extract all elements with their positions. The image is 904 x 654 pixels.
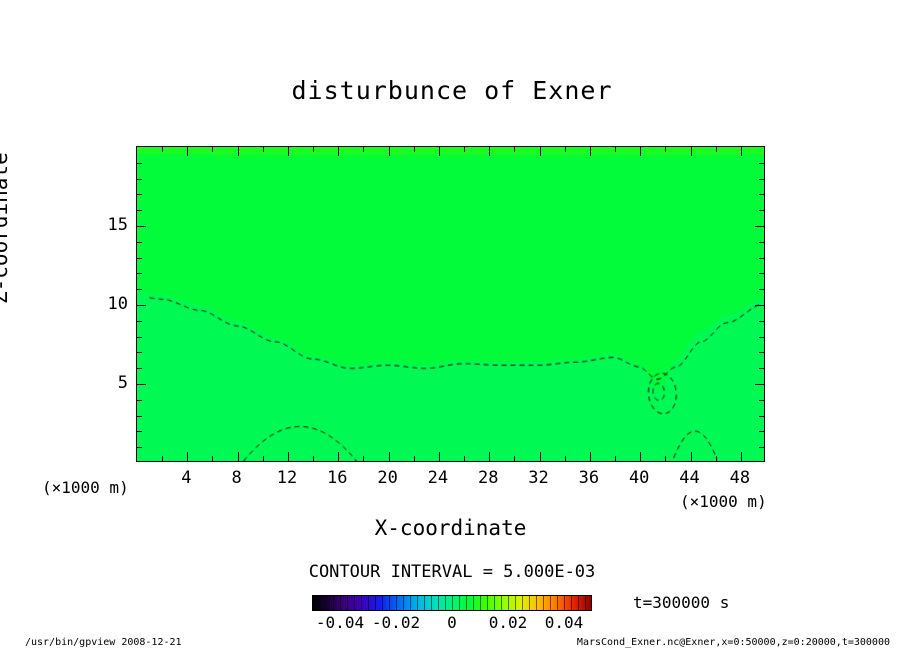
x-tick bbox=[489, 452, 490, 461]
y-axis-label: Z-coordinate bbox=[0, 152, 12, 304]
colorbar-tick bbox=[459, 595, 460, 611]
x-minor-tick bbox=[414, 147, 415, 152]
x-tick bbox=[238, 452, 239, 461]
x-tick bbox=[640, 452, 641, 461]
y-minor-tick bbox=[759, 337, 764, 338]
x-tick-label: 24 bbox=[428, 468, 448, 488]
x-minor-tick bbox=[363, 456, 364, 461]
colorbar-tick bbox=[438, 595, 439, 611]
x-minor-tick bbox=[716, 456, 717, 461]
x-minor-tick bbox=[162, 147, 163, 152]
y-tick bbox=[755, 384, 764, 385]
colorbar-tick bbox=[522, 595, 523, 611]
x-minor-tick bbox=[464, 147, 465, 152]
x-minor-tick bbox=[565, 456, 566, 461]
colorbar-tick bbox=[319, 595, 320, 611]
x-tick bbox=[238, 147, 239, 156]
y-minor-tick bbox=[137, 352, 142, 353]
colorbar-tick bbox=[515, 595, 516, 611]
x-minor-tick bbox=[313, 147, 314, 152]
x-tick-label: 44 bbox=[679, 468, 699, 488]
x-tick bbox=[389, 452, 390, 461]
y-minor-tick bbox=[137, 337, 142, 338]
y-tick-label: 5 bbox=[80, 373, 128, 393]
x-axis-label: X-coordinate bbox=[136, 516, 765, 540]
x-minor-tick bbox=[615, 147, 616, 152]
colorbar-tick bbox=[382, 595, 383, 611]
colorbar-tick bbox=[508, 595, 509, 611]
x-minor-tick bbox=[263, 456, 264, 461]
colorbar: -0.04-0.0200.020.04 bbox=[312, 595, 592, 611]
colorbar-label: -0.02 bbox=[372, 613, 420, 632]
x-minor-tick bbox=[665, 456, 666, 461]
x-minor-tick bbox=[665, 147, 666, 152]
y-tick bbox=[755, 305, 764, 306]
x-minor-tick bbox=[162, 456, 163, 461]
plot-area bbox=[136, 146, 765, 462]
colorbar-tick bbox=[543, 595, 544, 611]
x-tick-label: 28 bbox=[478, 468, 498, 488]
y-minor-tick bbox=[759, 368, 764, 369]
colorbar-tick bbox=[326, 595, 327, 611]
colorbar-tick bbox=[557, 595, 558, 611]
x-tick bbox=[338, 147, 339, 156]
colorbar-tick bbox=[550, 595, 551, 611]
colorbar-tick bbox=[466, 595, 467, 611]
x-tick bbox=[288, 452, 289, 461]
x-minor-tick bbox=[212, 456, 213, 461]
y-minor-tick bbox=[137, 368, 142, 369]
y-minor-tick bbox=[759, 321, 764, 322]
y-minor-tick bbox=[137, 273, 142, 274]
x-minor-tick bbox=[514, 147, 515, 152]
x-tick bbox=[489, 147, 490, 156]
colorbar-tick bbox=[494, 595, 495, 611]
colorbar-label: 0.02 bbox=[489, 613, 528, 632]
y-minor-tick bbox=[137, 258, 142, 259]
x-minor-tick bbox=[263, 147, 264, 152]
y-minor-tick bbox=[759, 431, 764, 432]
colorbar-label: -0.04 bbox=[316, 613, 364, 632]
contour-interval-label: CONTOUR INTERVAL = 5.000E-03 bbox=[0, 562, 904, 582]
y-minor-tick bbox=[759, 163, 764, 164]
colorbar-tick bbox=[536, 595, 537, 611]
colorbar-tick bbox=[347, 595, 348, 611]
contour-field-canvas bbox=[137, 147, 764, 461]
x-tick-label: 8 bbox=[232, 468, 242, 488]
x-tick bbox=[439, 452, 440, 461]
colorbar-tick bbox=[487, 595, 488, 611]
x-tick-label: 48 bbox=[730, 468, 750, 488]
x-tick bbox=[187, 452, 188, 461]
colorbar-tick-labels: -0.04-0.0200.020.04 bbox=[282, 613, 622, 633]
x-axis-tick-labels: 4812162024283236404448 bbox=[136, 468, 765, 492]
x-tick-label: 4 bbox=[181, 468, 191, 488]
colorbar-tick bbox=[480, 595, 481, 611]
colorbar-tick bbox=[417, 595, 418, 611]
y-minor-tick bbox=[137, 242, 142, 243]
x-tick bbox=[590, 147, 591, 156]
x-tick-label: 40 bbox=[629, 468, 649, 488]
x-tick bbox=[691, 452, 692, 461]
x-tick-label: 32 bbox=[528, 468, 548, 488]
colorbar-tick bbox=[354, 595, 355, 611]
colorbar-tick bbox=[473, 595, 474, 611]
y-minor-tick bbox=[137, 447, 142, 448]
x-tick bbox=[540, 452, 541, 461]
x-tick bbox=[540, 147, 541, 156]
x-tick bbox=[389, 147, 390, 156]
colorbar-tick bbox=[396, 595, 397, 611]
x-axis-unit-right: (×1000 m) bbox=[680, 492, 767, 511]
colorbar-tick bbox=[445, 595, 446, 611]
y-minor-tick bbox=[759, 194, 764, 195]
y-tick-label: 15 bbox=[80, 215, 128, 235]
x-tick bbox=[288, 147, 289, 156]
x-minor-tick bbox=[615, 456, 616, 461]
x-minor-tick bbox=[514, 456, 515, 461]
x-tick bbox=[590, 452, 591, 461]
colorbar-label: 0.04 bbox=[545, 613, 584, 632]
x-tick bbox=[741, 452, 742, 461]
y-tick bbox=[137, 384, 146, 385]
colorbar-tick bbox=[578, 595, 579, 611]
colorbar-label: 0 bbox=[447, 613, 457, 632]
x-tick-label: 36 bbox=[579, 468, 599, 488]
y-minor-tick bbox=[137, 163, 142, 164]
y-minor-tick bbox=[137, 289, 142, 290]
colorbar-tick bbox=[501, 595, 502, 611]
y-minor-tick bbox=[137, 321, 142, 322]
y-axis-tick-labels: 51015 bbox=[80, 146, 128, 462]
y-minor-tick bbox=[759, 416, 764, 417]
colorbar-tick bbox=[452, 595, 453, 611]
x-tick bbox=[187, 147, 188, 156]
colorbar-tick bbox=[529, 595, 530, 611]
y-minor-tick bbox=[137, 400, 142, 401]
colorbar-tick bbox=[361, 595, 362, 611]
y-minor-tick bbox=[137, 416, 142, 417]
x-tick bbox=[439, 147, 440, 156]
footer-left-text: /usr/bin/gpview 2008-12-21 bbox=[25, 637, 182, 648]
colorbar-tick bbox=[340, 595, 341, 611]
x-minor-tick bbox=[363, 147, 364, 152]
colorbar-tick bbox=[410, 595, 411, 611]
colorbar-tick bbox=[368, 595, 369, 611]
colorbar-tick bbox=[431, 595, 432, 611]
y-minor-tick bbox=[137, 210, 142, 211]
y-minor-tick bbox=[759, 447, 764, 448]
colorbar-tick bbox=[571, 595, 572, 611]
x-tick bbox=[741, 147, 742, 156]
x-tick bbox=[640, 147, 641, 156]
x-tick-label: 12 bbox=[277, 468, 297, 488]
y-minor-tick bbox=[137, 179, 142, 180]
x-minor-tick bbox=[414, 456, 415, 461]
colorbar-tick bbox=[375, 595, 376, 611]
x-minor-tick bbox=[212, 147, 213, 152]
chart-title: disturbunce of Exner bbox=[0, 76, 904, 105]
y-minor-tick bbox=[759, 179, 764, 180]
x-tick-label: 16 bbox=[327, 468, 347, 488]
colorbar-tick bbox=[389, 595, 390, 611]
y-tick bbox=[137, 226, 146, 227]
y-tick bbox=[137, 305, 146, 306]
y-tick-label: 10 bbox=[80, 294, 128, 314]
x-tick-label: 20 bbox=[377, 468, 397, 488]
colorbar-tick bbox=[333, 595, 334, 611]
y-minor-tick bbox=[137, 194, 142, 195]
x-minor-tick bbox=[565, 147, 566, 152]
y-minor-tick bbox=[759, 273, 764, 274]
x-tick bbox=[338, 452, 339, 461]
x-minor-tick bbox=[716, 147, 717, 152]
y-minor-tick bbox=[137, 431, 142, 432]
colorbar-tick bbox=[403, 595, 404, 611]
colorbar-tick bbox=[564, 595, 565, 611]
colorbar-ticks bbox=[312, 595, 592, 611]
y-minor-tick bbox=[759, 400, 764, 401]
footer-right-text: MarsCond_Exner.nc@Exner,x=0:50000,z=0:20… bbox=[577, 637, 890, 648]
y-tick bbox=[755, 226, 764, 227]
x-minor-tick bbox=[313, 456, 314, 461]
y-minor-tick bbox=[759, 242, 764, 243]
x-tick bbox=[691, 147, 692, 156]
time-label: t=300000 s bbox=[633, 593, 729, 612]
colorbar-tick bbox=[424, 595, 425, 611]
colorbar-tick bbox=[585, 595, 586, 611]
y-minor-tick bbox=[759, 352, 764, 353]
x-axis-unit-left: (×1000 m) bbox=[42, 478, 129, 497]
y-minor-tick bbox=[759, 210, 764, 211]
x-minor-tick bbox=[464, 456, 465, 461]
y-minor-tick bbox=[759, 258, 764, 259]
y-minor-tick bbox=[759, 289, 764, 290]
